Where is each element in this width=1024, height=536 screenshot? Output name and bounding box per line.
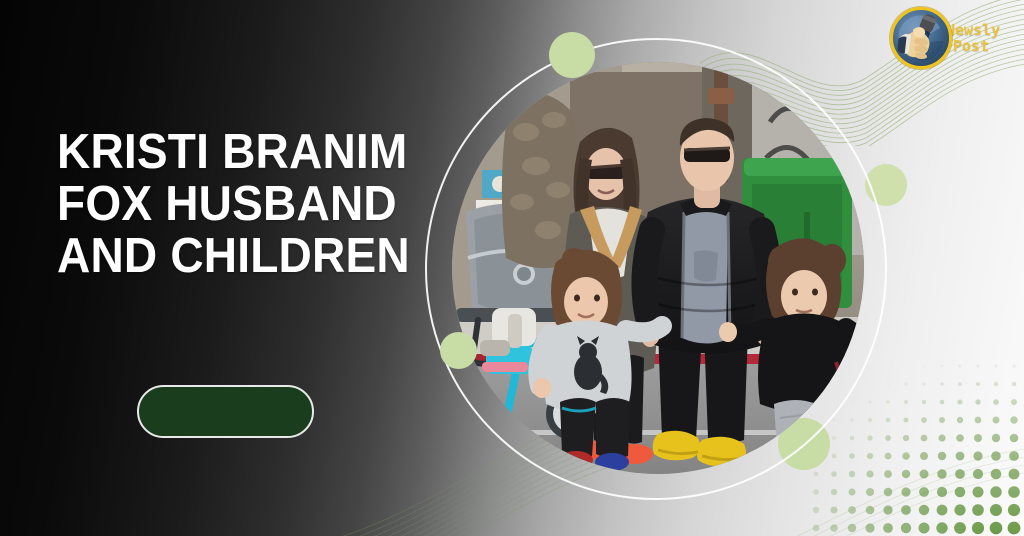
hand-holding-microphone-icon bbox=[890, 7, 952, 69]
page-title-line-2: Fox Husband bbox=[57, 179, 414, 231]
brand-logo[interactable]: Newsly Post bbox=[890, 3, 1022, 73]
thumbnail-canvas: SA I bbox=[0, 0, 1024, 536]
cta-button[interactable] bbox=[137, 385, 314, 438]
brand-name-line-1: Newsly bbox=[946, 22, 1000, 38]
page-title-line-1: Kristi Branim bbox=[57, 127, 414, 179]
article-photo: SA I bbox=[452, 62, 864, 474]
brand-name-line-2: Post bbox=[946, 38, 1000, 54]
page-title: Kristi Branim Fox Husband and Children bbox=[57, 127, 414, 283]
page-title-line-3: and Children bbox=[57, 231, 414, 283]
brand-name: Newsly Post bbox=[946, 22, 1000, 54]
